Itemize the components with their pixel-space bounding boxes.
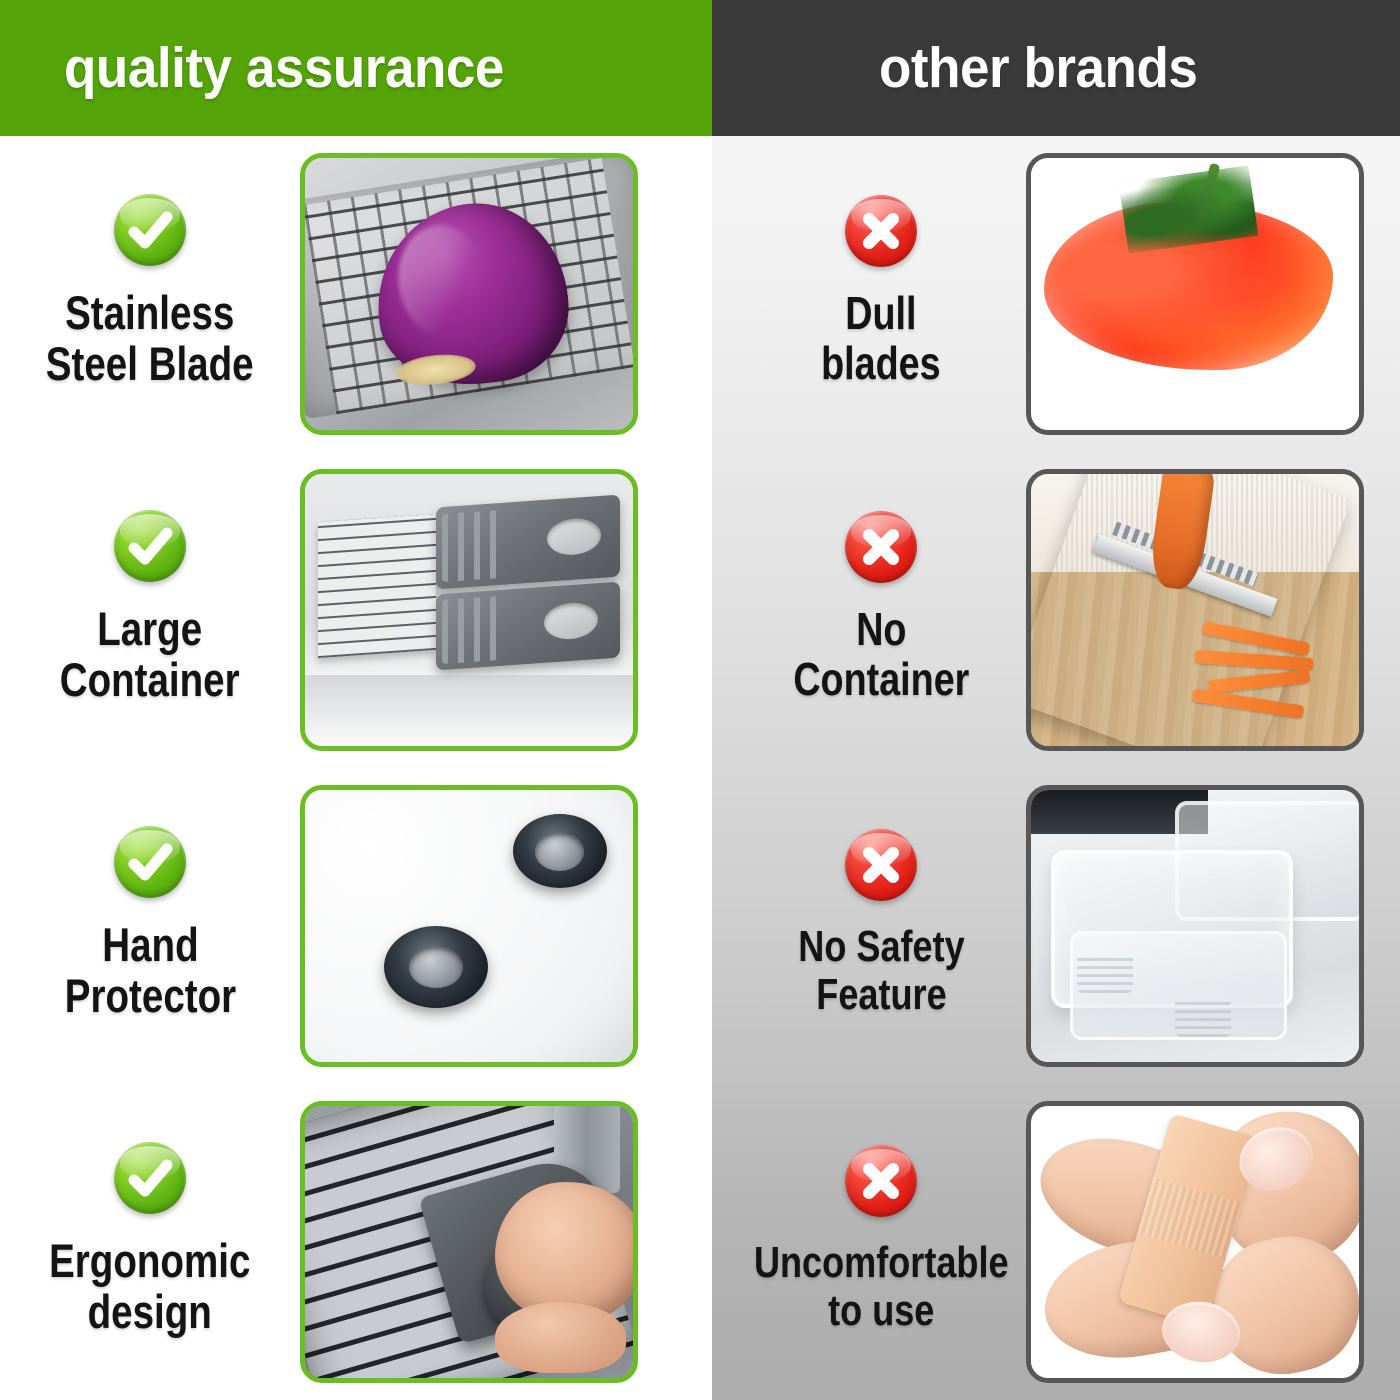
quality-assurance-title: quality assurance	[64, 40, 504, 97]
quality-assurance-rows: Stainless Steel Blade Large Container	[0, 136, 712, 1400]
drawback-image-mandoline-slicing-carrot-on-board	[1026, 469, 1364, 751]
drawback-image-crushed-tomato-pulp	[1026, 153, 1364, 435]
drawback-label: No Container	[793, 605, 969, 704]
feature-image-red-onion-on-chopper-grid	[300, 153, 638, 435]
other-brands-rows: Dull blades No Container	[712, 136, 1400, 1400]
quality-assurance-column: quality assurance Stainless Steel Blade	[0, 0, 712, 1400]
other-brands-header: other brands	[712, 0, 1400, 136]
drawback-label-cell: Dull blades	[736, 195, 1026, 392]
feature-label: Stainless Steel Blade	[46, 288, 254, 390]
feature-image-grid-insert-and-pusher-blades	[300, 469, 638, 751]
drawback-row-dull-blades: Dull blades	[712, 136, 1400, 452]
feature-row-ergonomic-design: Ergonomic design	[0, 1084, 712, 1400]
cross-icon	[845, 829, 917, 901]
drawback-label: No Safety Feature	[798, 923, 964, 1018]
feature-image-white-lid-with-rubber-feet	[300, 785, 638, 1067]
drawback-label-cell: No Safety Feature	[736, 829, 1026, 1022]
feature-image-hand-holding-wet-chopper-handle	[300, 1101, 638, 1383]
cross-icon	[845, 1145, 917, 1217]
drawback-label: Dull blades	[821, 289, 941, 388]
drawback-label: Uncomfortable to use	[754, 1239, 1009, 1334]
other-brands-title: other brands	[879, 40, 1197, 97]
drawback-label-cell: No Container	[736, 511, 1026, 708]
cross-icon	[845, 195, 917, 267]
feature-label: Hand Protector	[64, 920, 235, 1022]
drawback-row-no-container: No Container	[712, 452, 1400, 768]
quality-assurance-header: quality assurance	[0, 0, 712, 136]
check-icon	[114, 1142, 186, 1214]
other-brands-column: other brands Dull blades	[712, 0, 1400, 1400]
drawback-image-clear-plastic-storage-containers	[1026, 785, 1364, 1067]
check-icon	[114, 826, 186, 898]
drawback-row-no-safety-feature: No Safety Feature	[712, 768, 1400, 1084]
cross-icon	[845, 511, 917, 583]
drawback-label-cell: Uncomfortable to use	[736, 1145, 1026, 1338]
drawback-image-fingers-with-adhesive-bandage	[1026, 1101, 1364, 1383]
feature-label-cell: Large Container	[0, 510, 300, 710]
feature-label-cell: Ergonomic design	[0, 1142, 300, 1342]
feature-row-stainless-steel-blade: Stainless Steel Blade	[0, 136, 712, 452]
feature-row-large-container: Large Container	[0, 452, 712, 768]
feature-label: Ergonomic design	[49, 1236, 250, 1338]
drawback-row-uncomfortable-to-use: Uncomfortable to use	[712, 1084, 1400, 1400]
check-icon	[114, 510, 186, 582]
check-icon	[114, 194, 186, 266]
feature-label-cell: Stainless Steel Blade	[0, 194, 300, 394]
feature-label: Large Container	[60, 604, 240, 706]
feature-row-hand-protector: Hand Protector	[0, 768, 712, 1084]
comparison-infographic: quality assurance Stainless Steel Blade	[0, 0, 1400, 1400]
feature-label-cell: Hand Protector	[0, 826, 300, 1026]
